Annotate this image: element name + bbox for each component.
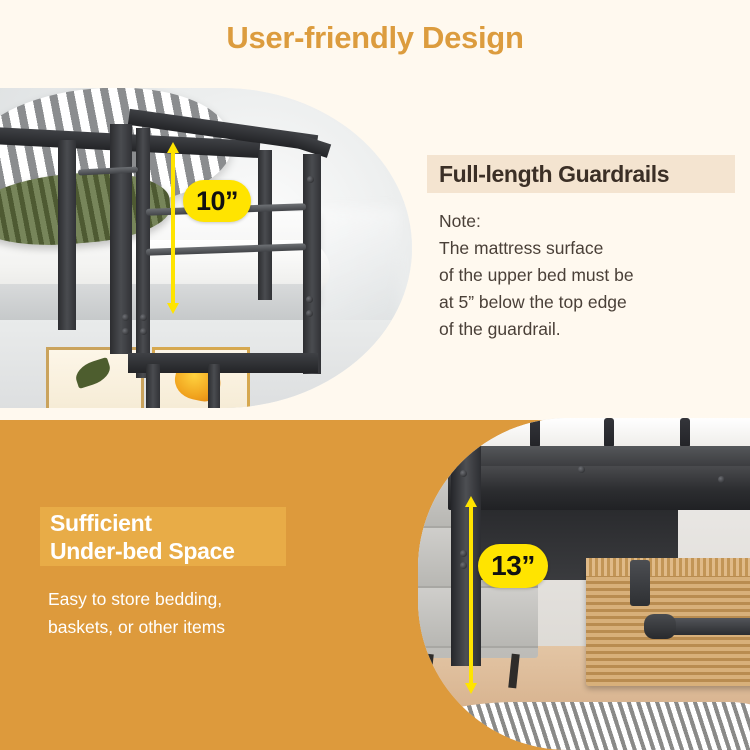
underbed-heading-text: Sufficient Under-bed Space [40,509,286,565]
underbed-note: Easy to store bedding, baskets, or other… [48,585,348,641]
screw-icon [306,296,313,303]
screw-icon [578,466,585,473]
screw-icon [140,328,147,335]
underbed-heading-line: Under-bed Space [50,537,286,565]
guardrail-note-line: of the upper bed must be [439,262,739,289]
bed-frame-post [451,446,481,666]
guardrail-note-line: The mattress surface [439,235,739,262]
guardrail-note-line: Note: [439,208,739,235]
underbed-note-line: baskets, or other items [48,613,348,641]
leaf-artwork [72,357,113,389]
guardrail-measure-arrow-down-icon [167,303,179,314]
guardrail-heading-text: Full-length Guardrails [427,161,669,188]
upper-bed-platform [0,284,320,320]
screw-icon [460,550,467,557]
underbed-photo [418,418,750,750]
screw-icon [460,562,467,569]
guardrail-heading-highlight: Full-length Guardrails [427,155,735,193]
screw-icon [307,176,314,183]
screw-icon [306,310,313,317]
wicker-basket-lid [586,558,750,576]
guardrail-post-far-right [303,154,321,374]
guardrail-post-mid [110,124,132,354]
guardrail-measurement-badge: 10” [183,180,251,222]
basket-handle-plate [644,614,676,639]
underbed-measure-line [469,506,473,684]
screw-icon [140,314,147,321]
underbed-heading-line: Sufficient [50,509,286,537]
underbed-measurement-badge: 13” [478,544,548,588]
bed-slat [680,418,690,448]
screw-icon [460,470,467,477]
screw-icon [122,328,129,335]
screw-icon [122,314,129,321]
bed-frame-top-edge [448,446,750,468]
striped-rug [418,702,750,750]
page-title: User-friendly Design [0,20,750,56]
guardrail-measure-arrow-up-icon [167,142,179,153]
guardrail-note-line: of the guardrail. [439,316,739,343]
bed-frame-side-rail [448,466,750,510]
underbed-note-line: Easy to store bedding, [48,585,348,613]
guardrail-measure-line [171,152,175,304]
screw-icon [718,476,725,483]
guardrail-post-left [58,140,76,330]
bed-leg-b [208,364,220,408]
infographic-page: User-friendly Design [0,0,750,750]
underbed-heading-highlight: Sufficient Under-bed Space [40,507,286,566]
basket-clasp-icon [630,560,650,606]
guardrail-note-line: at 5” below the top edge [439,289,739,316]
guardrail-note: Note: The mattress surface of the upper … [439,208,739,343]
underbed-measure-arrow-up-icon [465,496,477,507]
guardrail-photo [0,88,412,408]
bed-slat [530,418,540,448]
bed-leg-a [146,364,160,408]
bed-slat [604,418,614,448]
underbed-measure-arrow-down-icon [465,683,477,694]
guardrail-post-right [258,150,272,300]
